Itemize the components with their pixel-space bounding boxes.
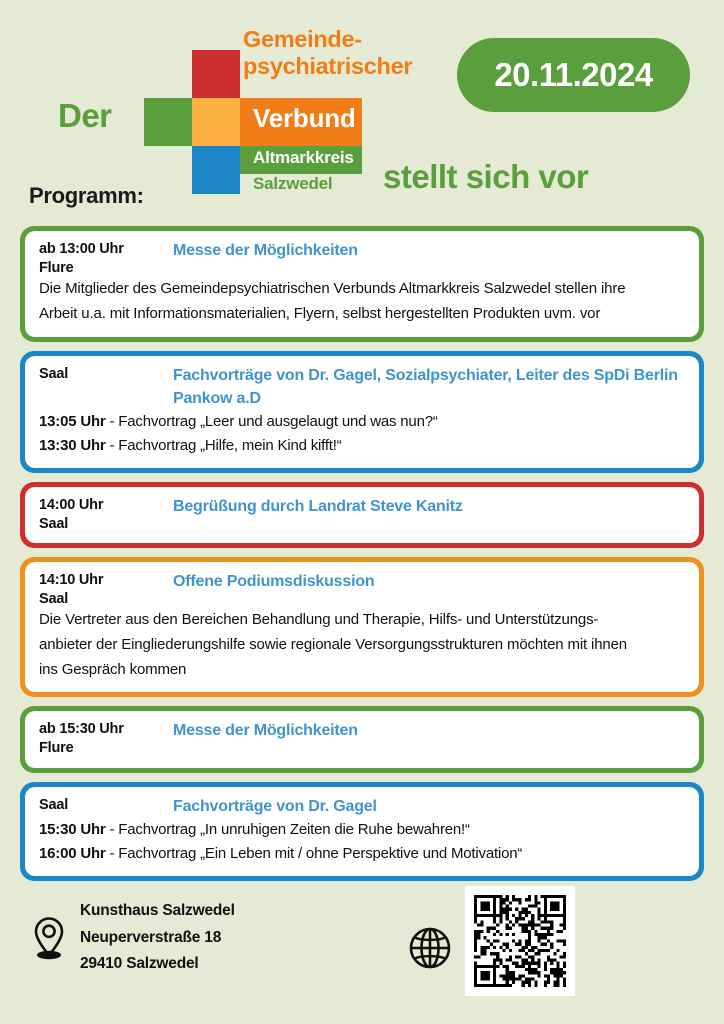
program-item-card: SaalFachvorträge von Dr. Gagel, Sozialps…	[25, 356, 699, 468]
program-item-talk-time: 13:05 Uhr	[39, 413, 106, 430]
logo-text-altmarkkreis: Altmarkkreis	[253, 148, 354, 168]
program-item: 14:00 UhrSaalBegrüßung durch Landrat Ste…	[20, 482, 704, 548]
program-item: ab 13:00 UhrFlureMesse der Möglichkeiten…	[20, 226, 704, 342]
program-item-description-line: ins Gespräch kommen	[39, 658, 685, 683]
program-item-time-line: 14:10 Uhr	[39, 572, 103, 588]
program-item-card: ab 15:30 UhrFlureMesse der Möglichkeiten	[25, 711, 699, 767]
program-item-talk-time: 13:30 Uhr	[39, 437, 106, 454]
poster-footer: Kunsthaus Salzwedel Neuperverstraße 18 2…	[0, 884, 724, 1009]
address-line-3: 29410 Salzwedel	[80, 951, 235, 978]
program-item-time: ab 15:30 UhrFlure	[39, 719, 173, 757]
program-item-card: 14:10 UhrSaalOffene PodiumsdiskussionDie…	[25, 562, 699, 692]
program-item-time: Saal	[39, 364, 173, 384]
program-item-time-line: 14:00 Uhr	[39, 497, 103, 513]
address-line-2: Neuperverstraße 18	[80, 925, 235, 952]
date-badge: 20.11.2024	[457, 38, 690, 112]
program-item-time: ab 13:00 UhrFlure	[39, 239, 173, 277]
program-item-card: ab 13:00 UhrFlureMesse der Möglichkeiten…	[25, 231, 699, 337]
program-item-talk: 13:05 Uhr - Fachvortrag „Leer und ausgel…	[39, 410, 685, 434]
program-item-location: Saal	[39, 515, 173, 534]
logo-square-yellow	[192, 98, 240, 146]
program-item-talk-text: - Fachvortrag „In unruhigen Zeiten die R…	[106, 821, 470, 838]
logo-square-blue	[192, 146, 240, 194]
program-item-location: Flure	[39, 739, 173, 758]
program-item-header: ab 13:00 UhrFlureMesse der Möglichkeiten	[39, 239, 685, 277]
program-item-description-line: Die Vertreter aus den Bereichen Behandlu…	[39, 608, 685, 633]
program-item-talk: 13:30 Uhr - Fachvortrag „Hilfe, mein Kin…	[39, 434, 685, 458]
program-item-title: Offene Podiumsdiskussion	[173, 570, 685, 593]
program-item-header: SaalFachvorträge von Dr. Gagel, Sozialps…	[39, 364, 685, 410]
qr-code[interactable]	[465, 886, 575, 996]
program-item-title: Begrüßung durch Landrat Steve Kanitz	[173, 495, 685, 518]
address-line-1: Kunsthaus Salzwedel	[80, 898, 235, 925]
program-item-card: SaalFachvorträge von Dr. Gagel15:30 Uhr …	[25, 787, 699, 876]
program-item-talk-time: 16:00 Uhr	[39, 845, 106, 862]
venue-address-block: Kunsthaus Salzwedel Neuperverstraße 18 2…	[32, 898, 235, 978]
logo-square-red	[192, 50, 240, 98]
program-item-header: ab 15:30 UhrFlureMesse der Möglichkeiten	[39, 719, 685, 757]
program-item-talk-text: - Fachvortrag „Leer und ausgelaugt und w…	[106, 413, 438, 430]
globe-icon	[408, 926, 452, 970]
program-item-time-line: Saal	[39, 797, 68, 813]
venue-address: Kunsthaus Salzwedel Neuperverstraße 18 2…	[80, 898, 235, 978]
program-item-talk-time: 15:30 Uhr	[39, 821, 106, 838]
program-item-time-line: ab 15:30 Uhr	[39, 721, 124, 737]
program-item: SaalFachvorträge von Dr. Gagel, Sozialps…	[20, 351, 704, 473]
program-item-title: Messe der Möglichkeiten	[173, 719, 685, 742]
program-item-title: Fachvorträge von Dr. Gagel, Sozialpsychi…	[173, 364, 685, 410]
program-item-talk-text: - Fachvortrag „Ein Leben mit / ohne Pers…	[106, 845, 523, 862]
program-item-time-line: ab 13:00 Uhr	[39, 241, 124, 257]
program-item-talk: 16:00 Uhr - Fachvortrag „Ein Leben mit /…	[39, 842, 685, 866]
program-list: ab 13:00 UhrFlureMesse der Möglichkeiten…	[20, 226, 704, 890]
program-item-description-line: Die Mitglieder des Gemeindepsychiatrisch…	[39, 277, 685, 302]
program-item-title: Fachvorträge von Dr. Gagel	[173, 795, 685, 818]
gpv-logo: Gemeinde- psychiatrischer Verbund Altmar…	[140, 28, 370, 193]
logo-text-gemeindepsychiatrischer: Gemeinde- psychiatrischer	[243, 26, 412, 79]
program-item-title: Messe der Möglichkeiten	[173, 239, 685, 262]
program-item-time: 14:00 UhrSaal	[39, 495, 173, 533]
program-item-time: Saal	[39, 795, 173, 815]
program-item-location: Saal	[39, 590, 173, 609]
logo-text-salzwedel: Salzwedel	[253, 174, 332, 194]
program-item: ab 15:30 UhrFlureMesse der Möglichkeiten	[20, 706, 704, 772]
programm-label: Programm:	[29, 183, 144, 209]
program-item-card: 14:00 UhrSaalBegrüßung durch Landrat Ste…	[25, 487, 699, 543]
program-item-header: 14:00 UhrSaalBegrüßung durch Landrat Ste…	[39, 495, 685, 533]
program-item-description-line: anbieter der Eingliederungshilfe sowie r…	[39, 633, 685, 658]
program-item-talk: 15:30 Uhr - Fachvortrag „In unruhigen Ze…	[39, 818, 685, 842]
logo-square-green	[144, 98, 192, 146]
program-item-time: 14:10 UhrSaal	[39, 570, 173, 608]
program-item: 14:10 UhrSaalOffene PodiumsdiskussionDie…	[20, 557, 704, 697]
program-item: SaalFachvorträge von Dr. Gagel15:30 Uhr …	[20, 782, 704, 881]
program-item-description-line: Arbeit u.a. mit Informationsmaterialien,…	[39, 302, 685, 327]
date-badge-label: 20.11.2024	[494, 56, 652, 94]
logo-text-verbund: Verbund	[253, 103, 356, 134]
qr-code-image	[474, 895, 566, 987]
poster-header: Der Gemeinde- psychiatrischer Verbund Al…	[0, 0, 724, 212]
program-item-location: Flure	[39, 259, 173, 278]
stellt-sich-vor-text: stellt sich vor	[383, 158, 588, 196]
der-word: Der	[58, 97, 112, 135]
map-pin-icon	[32, 916, 66, 960]
program-item-time-line: Saal	[39, 366, 68, 382]
program-item-header: SaalFachvorträge von Dr. Gagel	[39, 795, 685, 818]
logo-text-line-a: Gemeinde-	[243, 26, 412, 53]
logo-text-line-b: psychiatrischer	[243, 53, 412, 80]
program-item-header: 14:10 UhrSaalOffene Podiumsdiskussion	[39, 570, 685, 608]
program-item-talk-text: - Fachvortrag „Hilfe, mein Kind kifft!“	[106, 437, 342, 454]
